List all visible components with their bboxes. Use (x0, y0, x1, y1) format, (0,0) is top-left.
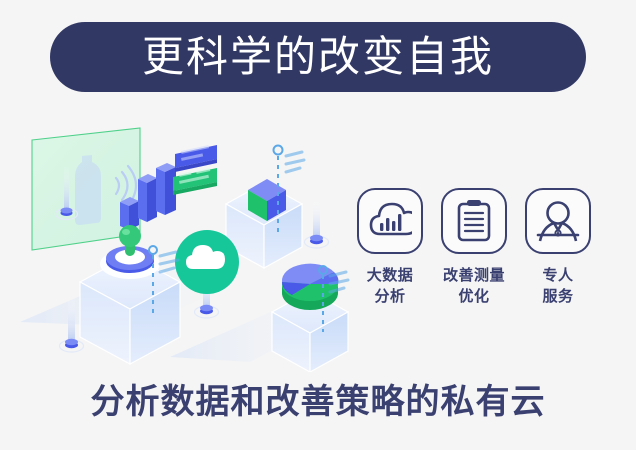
cloud-bar-chart-icon (368, 201, 412, 241)
feature-label: 改善测量 优化 (443, 266, 505, 307)
clipboard-icon (455, 199, 493, 243)
feature-icon-box (525, 188, 591, 254)
poster-canvas: 更科学的改变自我 (0, 0, 636, 450)
sign-card-green (173, 168, 217, 195)
bottle-silhouette (75, 155, 101, 225)
cloud-badge (175, 230, 239, 318)
support-person-icon (536, 200, 580, 242)
feature-label: 专人 服务 (542, 266, 573, 307)
stem-marker-right (305, 200, 329, 248)
feature-item-big-data-analysis[interactable]: 大数据 分析 (353, 188, 427, 307)
sign-card-blue (175, 145, 217, 172)
feature-label: 大数据 分析 (367, 266, 414, 307)
feature-icon-box (357, 188, 423, 254)
pie-chart-3d (282, 264, 338, 310)
feature-item-dedicated-service[interactable]: 专人 服务 (521, 188, 595, 307)
footer-tagline: 分析数据和改善策略的私有云 (0, 385, 636, 419)
header-banner: 更科学的改变自我 (50, 22, 586, 92)
illustration-isometric-scene (20, 122, 360, 372)
feature-icon-box (441, 188, 507, 254)
page-title: 更科学的改变自我 (142, 36, 494, 78)
feature-list: 大数据 分析 改善测量 优化 (352, 188, 596, 307)
feature-item-measurement-optimization[interactable]: 改善测量 优化 (437, 188, 511, 307)
